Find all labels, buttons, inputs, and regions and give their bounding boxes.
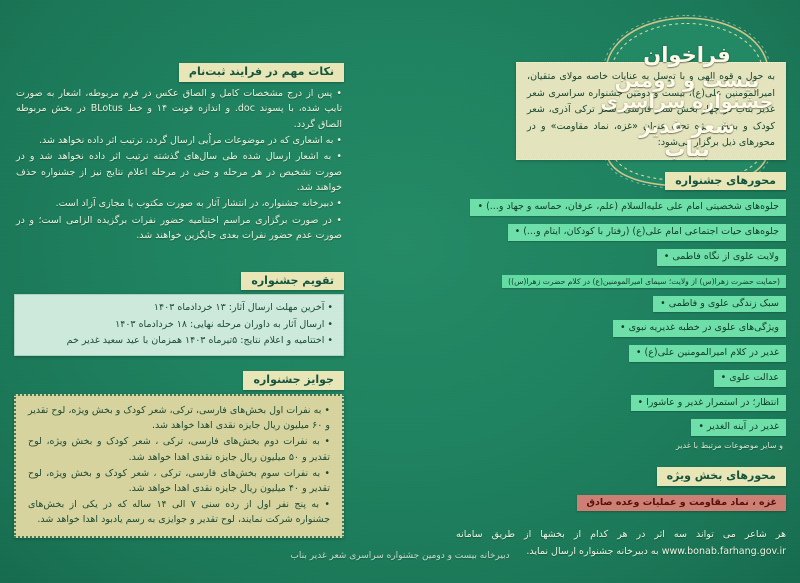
theme-list-item: انتظار؛ در استمرار غدیر و عاشورا •	[366, 390, 786, 415]
calendar-header: تقویم جشنواره	[241, 272, 344, 291]
poster-footer: دبیرخانه بیست و دومین جشنواره سراسری شعر…	[0, 551, 800, 561]
theme-sub-item: (حمایت حضرت زهرا(س) از ولایت؛ سیمای امیر…	[366, 269, 786, 291]
left-column: نکات مهم در فرایند ثبت‌نام • پس از درج م…	[14, 60, 344, 538]
theme-label: سبک زندگی علوی و فاطمی •	[653, 296, 786, 313]
prize-item: • به نفرات دوم بخش‌های فارسی، ترکی ، شعر…	[28, 434, 330, 464]
notes-body: • پس از درج مشخصات کامل و الصاق عکس در ف…	[14, 86, 344, 244]
prize-item: • به نفرات سوم بخش‌های فارسی، ترکی ، شعر…	[28, 466, 330, 496]
calendar-item: • ارسال آثار به داوران مرحله نهایی: ۱۸ خ…	[25, 317, 333, 333]
theme-label: غدیر در آینه الغدیر •	[691, 419, 786, 436]
note-item: • دبیرخانه جشنواره، در انتشار آثار به صو…	[16, 196, 342, 211]
spacer	[14, 356, 344, 368]
prizes-section: جوایز جشنواره • به نفرات اول بخش‌های فار…	[14, 368, 344, 538]
title-line-1: فراخوان	[643, 44, 730, 68]
calendar-section: تقویم جشنواره • آخرین مهلت ارسال آثار: ۱…	[14, 269, 344, 357]
prize-item: • به نفرات اول بخش‌های فارسی، ترکی، شعر …	[28, 403, 330, 433]
special-section: محورهای بخش ویژه غزه ، نماد مقاومت و عمل…	[366, 464, 786, 511]
theme-label: جلوه‌های شخصیتی امام علی علیه‌السلام (عل…	[470, 199, 786, 216]
prizes-panel: • به نفرات اول بخش‌های فارسی، ترکی، شعر …	[14, 394, 344, 539]
title-line-2: بیست و دومین	[615, 69, 760, 91]
spacer	[14, 245, 344, 269]
special-list-item: غزه ، نماد مقاومت و عملیات وعده صادق	[366, 490, 786, 511]
special-header-row: محورهای بخش ویژه	[366, 464, 786, 486]
special-header: محورهای بخش ویژه	[657, 467, 786, 486]
notes-header-row: نکات مهم در فرایند ثبت‌نام	[14, 60, 344, 82]
theme-list-item: جلوه‌های حیات اجتماعی امام علی(ع) (رفتار…	[366, 219, 786, 244]
prizes-header-row: جوایز جشنواره	[14, 368, 344, 390]
submission-line-2-pre: سامانه	[456, 529, 483, 540]
theme-label: انتظار؛ در استمرار غدیر و عاشورا •	[631, 395, 787, 412]
note-item: • پس از درج مشخصات کامل و الصاق عکس در ف…	[16, 86, 342, 132]
special-label: غزه ، نماد مقاومت و عملیات وعده صادق	[577, 495, 786, 511]
theme-list-item: ولایت علوی از نگاه فاطمی •	[366, 244, 786, 269]
poster-title: فراخوان بیست و دومین جشنواره سراسری شعر …	[592, 14, 782, 190]
theme-list-item: عدالت علوی •	[366, 365, 786, 390]
calendar-panel: • آخرین مهلت ارسال آثار: ۱۳ خردادماه ۱۴۰…	[14, 294, 344, 356]
title-emblem: فراخوان بیست و دومین جشنواره سراسری شعر …	[592, 14, 782, 190]
theme-list-item: غدیر در کلام امیرالمومنین علی(ع) •	[366, 340, 786, 365]
submission-line-1: هر شاعر می تواند سه اثر در هر کدام از بخ…	[492, 529, 786, 540]
theme-label: ولایت علوی از نگاه فاطمی •	[657, 249, 786, 266]
poster-canvas: فراخوان بیست و دومین جشنواره سراسری شعر …	[0, 0, 800, 583]
theme-list-item: سبک زندگی علوی و فاطمی •	[366, 291, 786, 316]
theme-label: عدالت علوی •	[714, 370, 786, 387]
note-item: • به اشعاری که در موضوعات مراٌیی ارسال گ…	[16, 133, 342, 148]
theme-label: غدیر در کلام امیرالمومنین علی(ع) •	[629, 345, 786, 362]
note-item: • به اشعار ارسال شده طی سال‌های گذشته تر…	[16, 149, 342, 195]
calendar-header-row: تقویم جشنواره	[14, 269, 344, 291]
theme-list-item: ویژگی‌های علوی در خطبه غدیریه نبوی •	[366, 315, 786, 340]
calendar-item: • آخرین مهلت ارسال آثار: ۱۳ خردادماه ۱۴۰…	[25, 300, 333, 316]
title-line-3: جشنواره سراسری	[601, 92, 774, 113]
prize-item: • به پنج نفر اول از رده سنی ۷ الی ۱۴ سال…	[28, 497, 330, 527]
theme-list-item: غدیر در آینه الغدیر •	[366, 414, 786, 439]
themes-tail-note: و سایر موضوعات مرتبط با غدیر	[366, 441, 786, 450]
title-line-5: بناب	[664, 138, 709, 162]
theme-list-item: جلوه‌های شخصیتی امام علی علیه‌السلام (عل…	[366, 194, 786, 219]
theme-label: جلوه‌های حیات اجتماعی امام علی(ع) (رفتار…	[508, 224, 786, 241]
notes-section: نکات مهم در فرایند ثبت‌نام • پس از درج م…	[14, 60, 344, 244]
prizes-header: جوایز جشنواره	[243, 371, 344, 390]
theme-sub-label: (حمایت حضرت زهرا(س) از ولایت؛ سیمای امیر…	[502, 275, 786, 288]
theme-label: ویژگی‌های علوی در خطبه غدیریه نبوی •	[613, 320, 786, 337]
title-line-4: شعر غدیر	[639, 115, 735, 137]
note-item: • در صورت برگزاری مراسم اختتامیه حضور نف…	[16, 213, 342, 244]
notes-header: نکات مهم در فرایند ثبت‌نام	[179, 63, 344, 82]
calendar-item: • اختتامیه و اعلام نتایج: ۵تیرماه ۱۴۰۳ ه…	[25, 333, 333, 349]
themes-section: محورهای جشنواره جلوه‌های شخصیتی امام علی…	[366, 169, 786, 451]
